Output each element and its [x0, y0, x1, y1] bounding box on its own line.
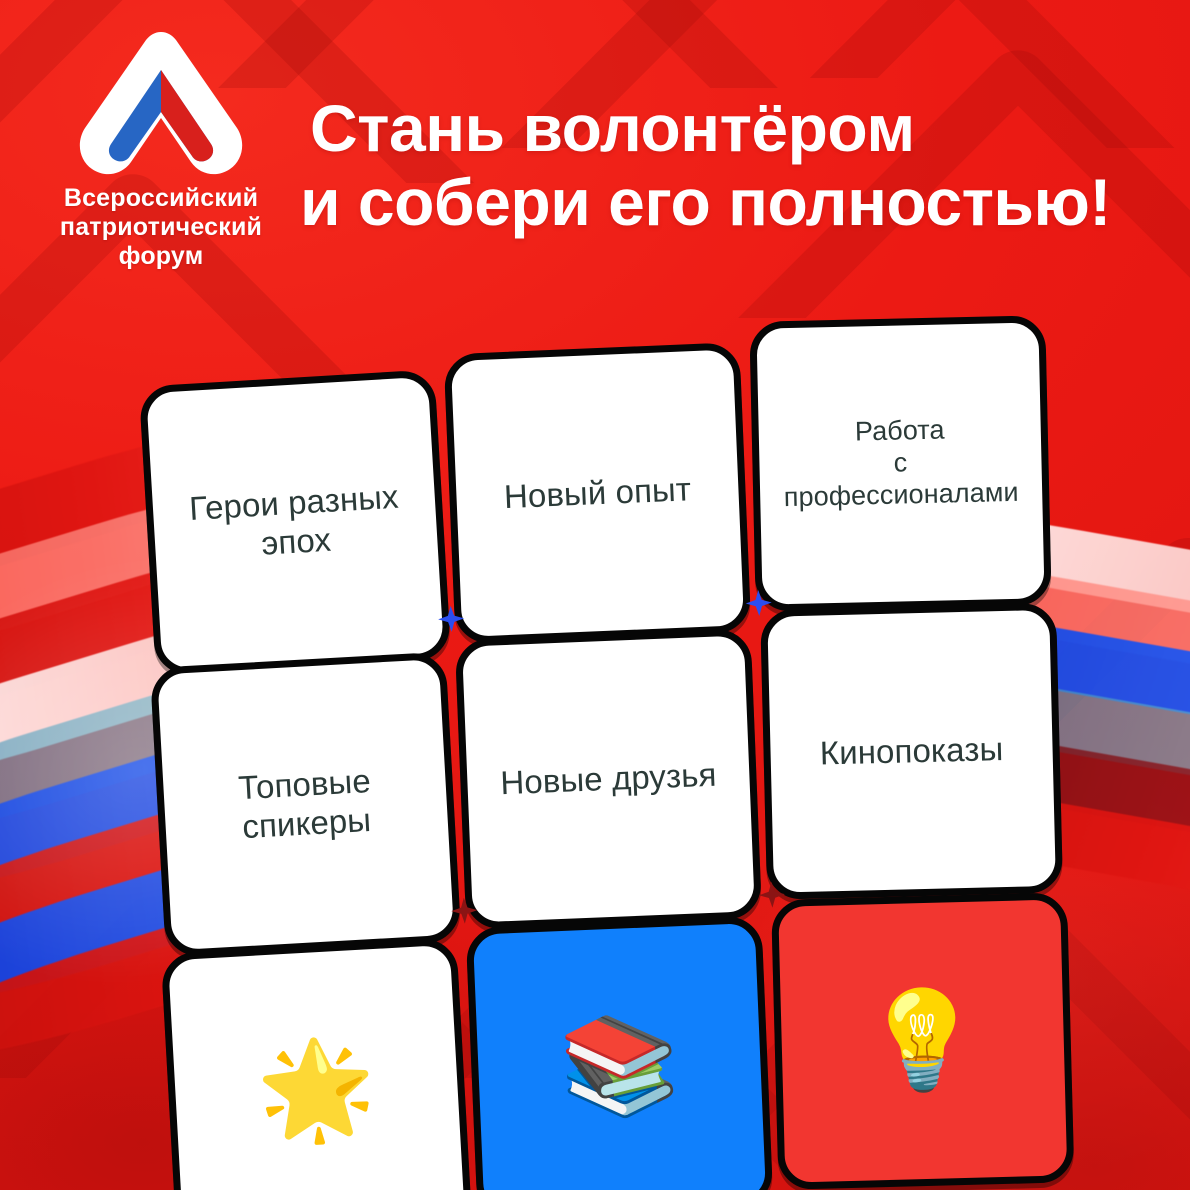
page-title-line-2: и собери его полностью! [300, 166, 1180, 240]
card-film-screenings[interactable]: Кинопоказы [760, 603, 1063, 900]
card-books[interactable]: 📚 [466, 916, 774, 1190]
card-top-speakers[interactable]: Топовые спикеры [150, 652, 462, 958]
card-label: Кинопоказы [805, 729, 1017, 773]
card-label: Работа с профессионалами [758, 413, 1042, 515]
card-row: Топовые спикеры Новые друзья Кинопоказы [151, 602, 1081, 927]
brand-name-line-3: форум [36, 242, 286, 271]
glowing-star-icon: 🌟 [254, 1039, 379, 1142]
books-icon: 📚 [558, 1016, 681, 1117]
corner-sparkle [438, 605, 465, 632]
chevron-arrow-logo-icon [71, 26, 251, 178]
card-label-line-2: спикеры [240, 801, 374, 847]
card-work-with-professionals[interactable]: Работа с профессионалами [749, 315, 1052, 612]
poster-root: Всероссийский патриотический форум Стань… [0, 0, 1190, 1190]
card-light-bulb[interactable]: 💡 [771, 892, 1074, 1190]
brand-name-line-1: Всероссийский [36, 184, 286, 213]
page-title-line-1: Стань волонтёром [300, 92, 1180, 166]
card-row: 🌟 📚 💡 [162, 894, 1092, 1190]
card-row: Геpои разных эпох Новый опыт Работа с пр… [139, 312, 1069, 637]
corner-sparkle [451, 897, 478, 924]
corner-sparkle [745, 590, 772, 617]
brand-name: Всероссийский патриотический форум [36, 184, 286, 270]
card-new-friends[interactable]: Новые друзья [455, 628, 762, 930]
corner-sparkle [758, 881, 785, 908]
card-label: Геpои разных эпох [152, 476, 438, 570]
card-glowing-star[interactable]: 🌟 [161, 937, 473, 1190]
card-new-experience[interactable]: Новый опыт [444, 342, 752, 644]
brand-logo: Всероссийский патриотический форум [36, 26, 286, 270]
light-bulb-icon: 💡 [862, 992, 984, 1091]
card-label: Новые друзья [486, 755, 731, 804]
card-label: Топовые спикеры [223, 761, 388, 848]
page-title: Стань волонтёром и собери его полностью! [300, 92, 1180, 240]
benefits-card-grid: Геpои разных эпох Новый опыт Работа с пр… [138, 282, 1092, 1190]
card-label: Новый опыт [489, 469, 706, 517]
card-label-line-2: с профессионалами [773, 445, 1028, 514]
brand-name-line-2: патриотический [36, 213, 286, 242]
